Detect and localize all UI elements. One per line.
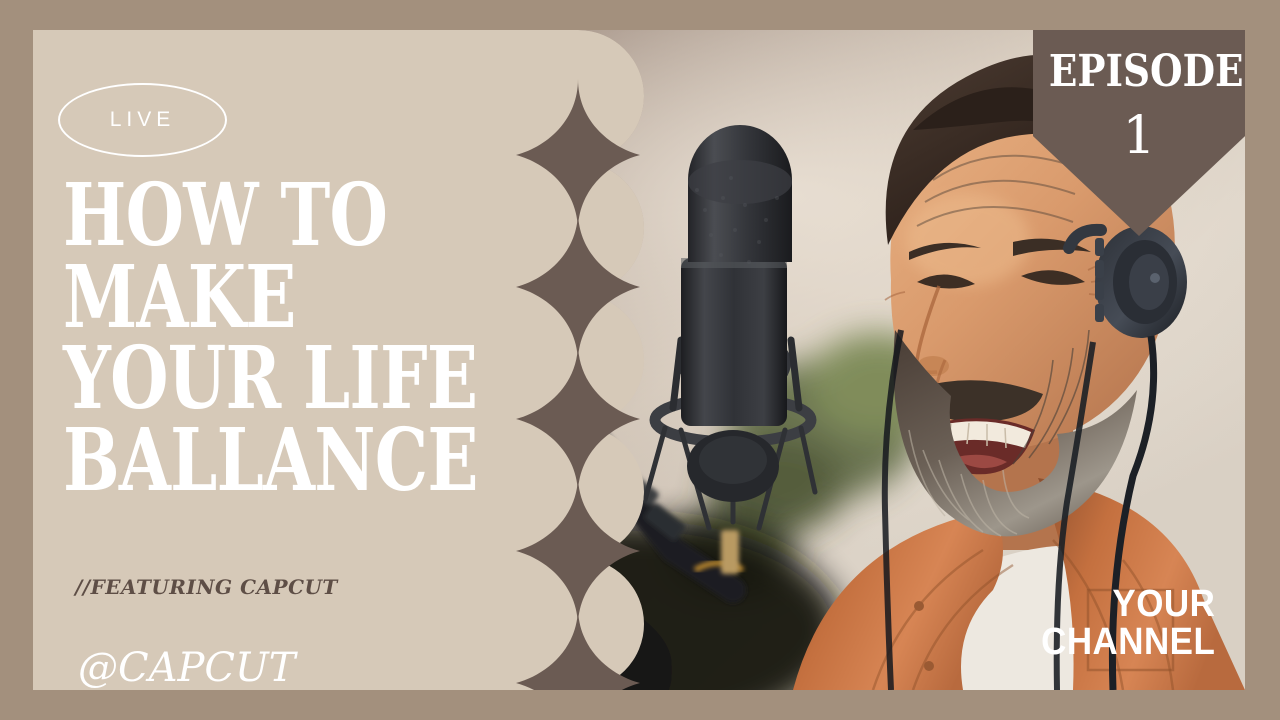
episode-number: 1 (1033, 106, 1245, 166)
four-pointed-star-icon (516, 475, 640, 627)
featuring-subtitle: //FEATURING CAPCUT (75, 575, 338, 599)
channel-line-1: YOUR (1041, 585, 1215, 623)
social-handle: @CAPCUT (78, 645, 295, 690)
title-line-3: YOUR LIFE (63, 338, 430, 420)
episode-label: EPISODE (1049, 46, 1229, 97)
channel-line-2: CHANNEL (1041, 623, 1215, 661)
channel-name: YOUR CHANNEL (1026, 585, 1215, 661)
title-line-2: MAKE (63, 257, 430, 339)
four-pointed-star-icon (516, 607, 640, 690)
title-line-1: HOW TO (63, 175, 430, 257)
four-pointed-star-icon (516, 79, 640, 231)
episode-badge: EPISODE 1 (1033, 30, 1245, 236)
live-badge[interactable]: LIVE (58, 83, 227, 157)
inner-panel: LIVE HOW TO MAKE YOUR LIFE BALLANCE //FE… (33, 30, 1245, 690)
title-line-4: BALLANCE (63, 420, 430, 502)
thumbnail-canvas: LIVE HOW TO MAKE YOUR LIFE BALLANCE //FE… (0, 0, 1280, 720)
page-title: HOW TO MAKE YOUR LIFE BALLANCE (63, 175, 533, 502)
live-badge-label: LIVE (110, 108, 176, 132)
four-pointed-star-icon (516, 343, 640, 495)
four-pointed-star-icon (516, 211, 640, 363)
